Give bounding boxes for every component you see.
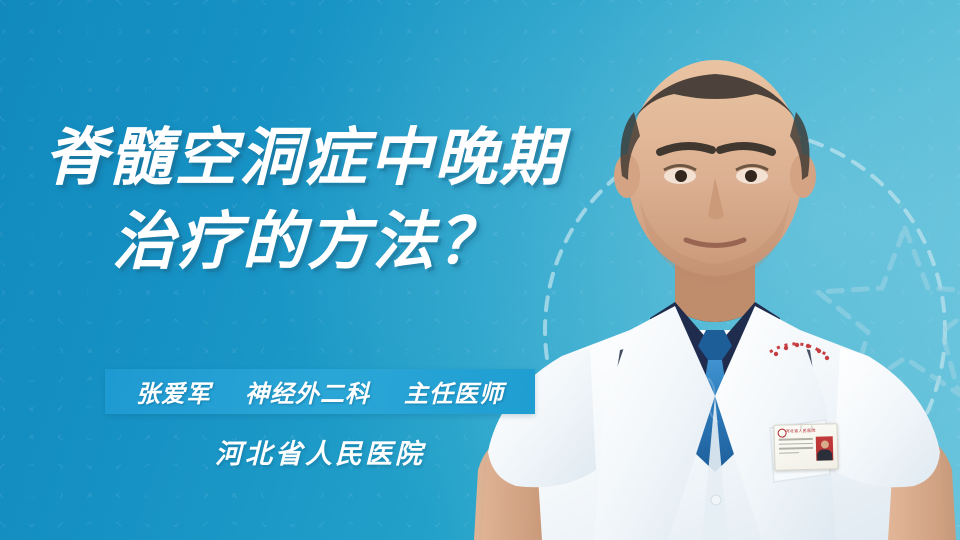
hospital-name: 河北省人民医院 [105,432,535,471]
staff-id-badge: 河北省人民医院 [773,423,838,471]
credential-bar: 张爱军 神经外二科 主任医师 [105,369,535,414]
pupil-right [745,170,757,182]
pupil-left [675,170,687,182]
badge-org-label: 河北省人民医院 [786,428,816,435]
poster-title: 脊髓空洞症中晚期 治疗的方法？ [0,116,600,284]
poster-canvas: 河北省人民医院 脊髓空洞症中晚期 治疗的方法？ 张爱军 神经外二科 主任医师 河… [0,0,960,540]
coat-button [711,495,721,505]
doctor-department: 神经外二科 [245,374,370,409]
title-line-2: 治疗的方法？ [14,200,600,284]
badge-detail-lines [779,438,813,457]
sleeve-right [834,348,940,487]
title-line-1: 脊髓空洞症中晚期 [8,116,600,200]
doctor-name: 张爱军 [136,374,211,409]
badge-photo [816,436,834,460]
doctor-rank: 主任医师 [404,374,504,409]
